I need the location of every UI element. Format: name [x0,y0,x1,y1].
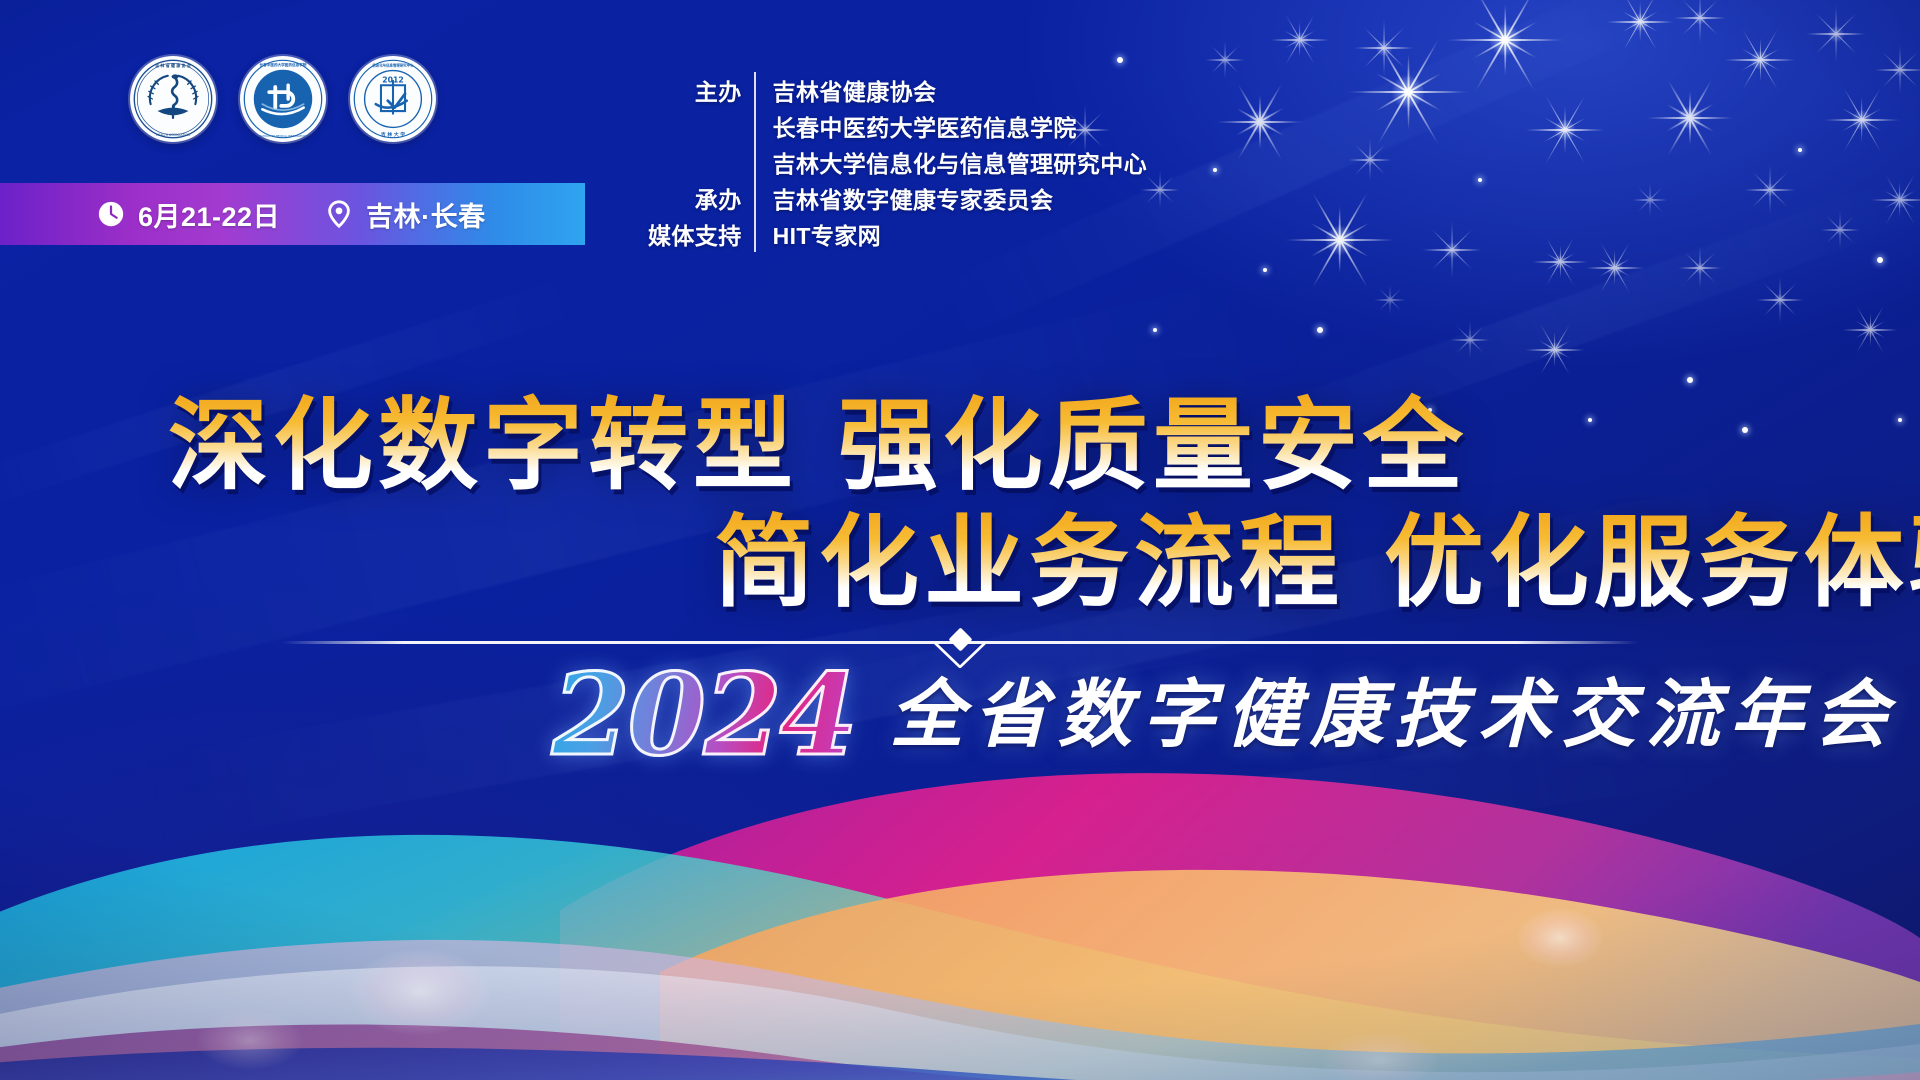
logo-changchun-university-chinese-medicine: 长春中医药大学医药信息学院 SCHOOL OF MEDICAL INFORMAT… [240,56,326,142]
location-pin-icon [324,199,354,229]
organiser-label: 承办 [695,180,754,216]
organiser-value-text: 吉林省数字健康专家委员会 [773,181,1054,215]
clock-icon [96,199,126,229]
organiser-label-empty [742,108,754,144]
organiser-credits: 主办承办媒体支持 吉林省健康协会长春中医药大学医药信息学院吉林大学信息化与信息管… [648,72,1147,252]
star-dot-icon [1213,168,1217,172]
svg-text:2012: 2012 [382,76,404,85]
organiser-labels: 主办承办媒体支持 [648,72,754,252]
star-dot-icon [1263,268,1267,272]
headline-line-1: 深化数字转型 强化质量安全 [0,392,1920,499]
svg-text:吉 林 省 健 康 协 会: 吉 林 省 健 康 协 会 [155,63,191,68]
event-date-location-bar: 6月21-22日 吉林·长春 [0,183,585,245]
organiser-value: 吉林省数字健康专家委员会 [773,180,1054,216]
decorative-wave-ribbons [0,620,1920,1080]
organiser-value-text: HIT专家网 [773,217,881,251]
svg-text:信息化与信息管理研究中心: 信息化与信息管理研究中心 [372,62,414,67]
organiser-logo-row: 吉 林 省 健 康 协 会 HEALTH ASSOCIATION 长春中医药大学… [130,56,436,142]
event-location: 吉林·长春 [324,195,486,234]
headline-line-2: 简化业务流程 优化服务体验 [0,509,1920,616]
logo-jilin-health-association: 吉 林 省 健 康 协 会 HEALTH ASSOCIATION [130,56,216,142]
logo-jilin-university-informatization-center: 2012 信息化与信息管理研究中心 吉 林 大 学 [350,56,436,142]
organiser-label-text: 承办 [695,181,754,215]
star-dot-icon [1687,377,1693,383]
organiser-label: 主办 [695,72,754,108]
star-dot-icon [1317,327,1323,333]
organiser-values: 吉林省健康协会长春中医药大学医药信息学院吉林大学信息化与信息管理研究中心吉林省数… [754,72,1147,252]
conference-poster: 吉 林 省 健 康 协 会 HEALTH ASSOCIATION 长春中医药大学… [0,0,1920,1080]
event-date-text: 6月21-22日 [138,195,280,234]
star-dot-icon [1153,328,1157,332]
star-dot-icon [1798,148,1802,152]
star-dot-icon [1117,57,1123,63]
organiser-label-empty [742,144,754,180]
svg-text:SCHOOL OF MEDICAL INFORMATION: SCHOOL OF MEDICAL INFORMATION [260,134,307,138]
organiser-value-text: 长春中医药大学医药信息学院 [773,109,1077,143]
svg-text:HEALTH ASSOCIATION: HEALTH ASSOCIATION [156,133,190,137]
svg-text:长春中医药大学医药信息学院: 长春中医药大学医药信息学院 [260,62,307,67]
star-dot-icon [1877,257,1883,263]
organiser-value-text: 吉林大学信息化与信息管理研究中心 [773,145,1147,179]
organiser-label-text: 媒体支持 [648,217,754,251]
organiser-label: 媒体支持 [648,216,754,252]
event-date: 6月21-22日 [96,195,280,234]
organiser-value: 长春中医药大学医药信息学院 [773,108,1077,144]
organiser-label-text: 主办 [695,73,754,107]
headline-block: 深化数字转型 强化质量安全 简化业务流程 优化服务体验 [0,392,1920,616]
event-location-text: 吉林·长春 [366,195,486,234]
organiser-value: 吉林省健康协会 [773,72,937,108]
star-dot-icon [1478,178,1482,182]
organiser-value: HIT专家网 [773,216,881,252]
organiser-value-text: 吉林省健康协会 [773,73,937,107]
organiser-value: 吉林大学信息化与信息管理研究中心 [773,144,1147,180]
